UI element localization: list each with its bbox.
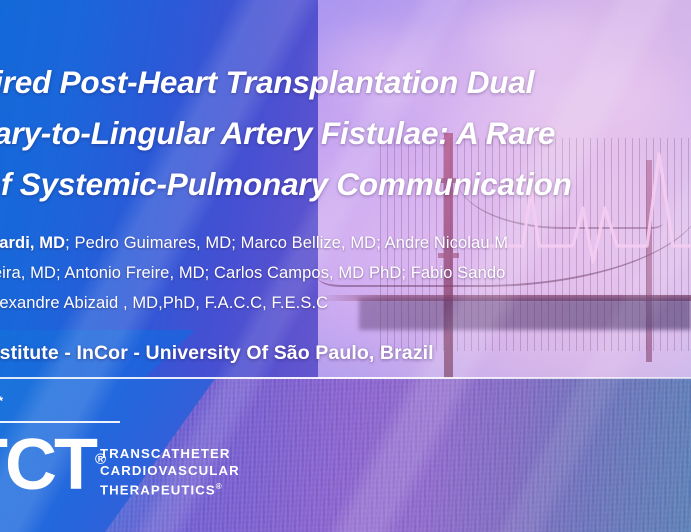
tct-wordmark: TCT® [0, 421, 106, 504]
author-list: ao Pardi, MD; Pedro Guimares, MD; Marco … [0, 228, 691, 318]
tct-words-trademark: ® [216, 482, 222, 491]
tct-text: TCT [0, 425, 95, 505]
title-line-1: quired Post-Heart Transplantation Dual [0, 57, 691, 108]
tct-word-1: TRANSCATHETER [100, 446, 240, 463]
title-line-3: e of Systemic-Pulmonary Communication [0, 159, 691, 210]
section-divider [0, 377, 691, 379]
crf-trademark: * [0, 394, 3, 408]
author-line-1-rest: ; Pedro Guimares, MD; Marco Bellize, MD;… [65, 234, 508, 252]
institution-line: t Institute - InCor - University Of São … [0, 339, 691, 367]
crf-wordmark: RF* [0, 388, 3, 419]
author-line-3: D; Alexandre Abizaid , MD,PhD, F.A.C.C, … [0, 288, 691, 318]
title-line-2: onary-to-Lingular Artery Fistulae: A Rar… [0, 108, 691, 159]
crf-tct-logo: RF* TCT® TRANSCATHETER CARDIOVASCULAR TH… [0, 388, 296, 518]
tct-word-2: CARDIOVASCULAR [100, 463, 240, 480]
presentation-title-slide: quired Post-Heart Transplantation Dual o… [0, 0, 691, 532]
author-line-2: Oliveira, MD; Antonio Freire, MD; Carlos… [0, 258, 691, 288]
lead-author: ao Pardi, MD [0, 234, 65, 252]
page-title: quired Post-Heart Transplantation Dual o… [0, 57, 691, 210]
author-line-1: ao Pardi, MD; Pedro Guimares, MD; Marco … [0, 228, 691, 258]
tct-word-3-line: THERAPEUTICS® [100, 479, 240, 499]
tct-word-3: THERAPEUTICS [100, 482, 216, 497]
tct-full-name: TRANSCATHETER CARDIOVASCULAR THERAPEUTIC… [100, 446, 240, 499]
